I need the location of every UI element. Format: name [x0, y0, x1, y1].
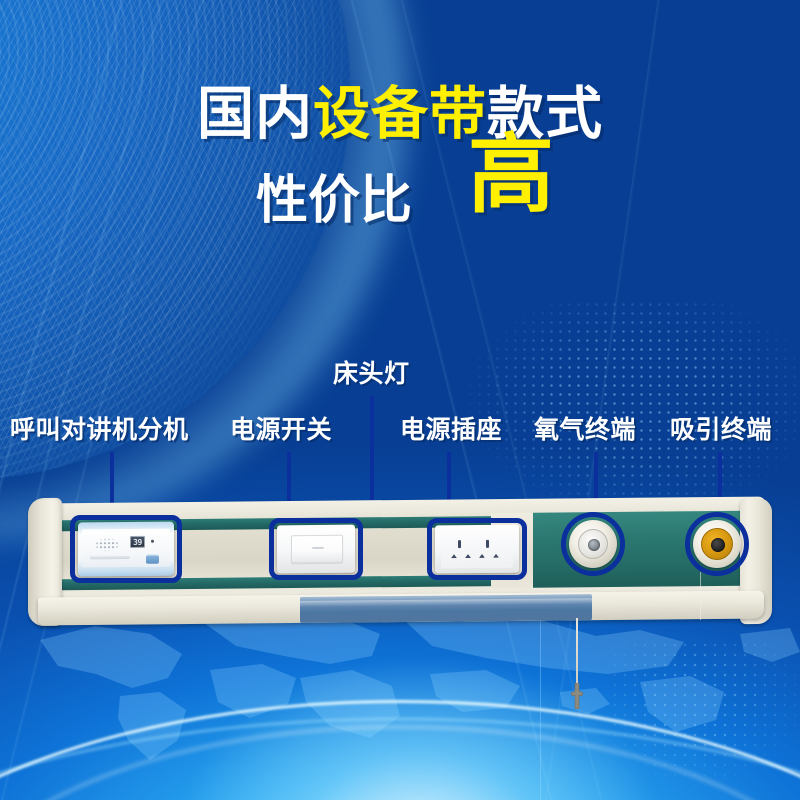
oxygen-terminal-core [588, 539, 600, 551]
power-socket-device[interactable] [435, 525, 519, 574]
intercom-call-button[interactable] [146, 555, 159, 564]
socket-pin-b1 [479, 554, 485, 558]
socket-pin-a1 [451, 554, 457, 558]
panel-rail-blue-section [300, 594, 592, 623]
callout-power-socket: 电源插座 [400, 418, 502, 443]
intercom-faceplate: 39 [82, 529, 170, 568]
cord-weight-cross-icon [566, 683, 588, 709]
callout-suction-terminal: 吸引终端 [670, 418, 772, 443]
socket-pin-b2 [493, 554, 499, 558]
socket-pin-live-right [486, 540, 489, 548]
suction-terminal-ring [701, 528, 733, 560]
callout-intercom: 呼叫对讲机分机 [10, 418, 189, 443]
callouts-layer: 呼叫对讲机分机 电源开关 床头灯 电源插座 氧气终端 吸引终端 [0, 0, 800, 800]
intercom-display: 39 [130, 536, 145, 548]
callout-power-switch: 电源开关 [230, 418, 332, 443]
socket-pin-live-left [458, 540, 461, 548]
bed-head-unit-panel: 39 [28, 497, 772, 629]
rocker-switch[interactable] [291, 535, 343, 563]
suction-hose-cord [576, 618, 578, 690]
intercom-slot [90, 556, 130, 559]
status-led-icon [151, 540, 154, 543]
socket-pin-a2 [465, 554, 471, 558]
suction-terminal-device[interactable] [693, 520, 741, 568]
panel-body: 39 [28, 497, 772, 629]
oxygen-terminal-ring [578, 529, 608, 559]
speaker-grille-icon [91, 537, 123, 552]
oxygen-terminal-device[interactable] [569, 520, 617, 568]
suction-terminal-core [711, 538, 725, 552]
callout-oxygen-terminal: 氧气终端 [534, 418, 636, 443]
power-switch-device[interactable] [277, 525, 355, 574]
panel-lower-rail [38, 591, 764, 626]
nurse-call-intercom-device[interactable]: 39 [78, 522, 174, 577]
secondary-cord [700, 572, 701, 620]
callout-bed-lamp: 床头灯 [333, 362, 410, 387]
socket-faceplate [441, 530, 513, 569]
